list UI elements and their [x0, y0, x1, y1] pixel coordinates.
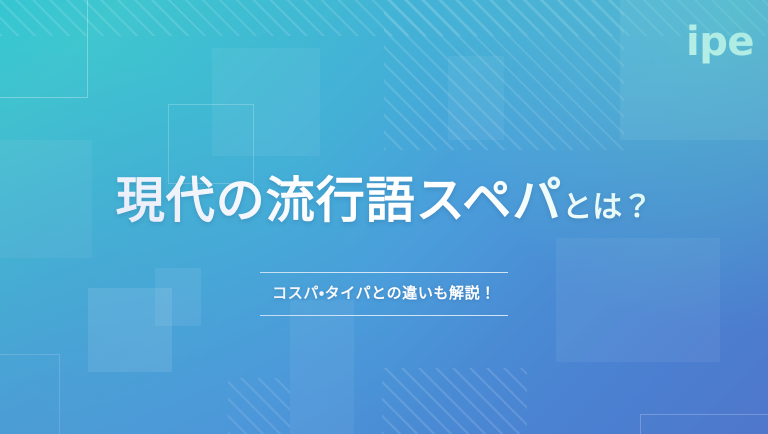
fill-band-center-lower — [290, 300, 354, 434]
stripe-block-lower-left — [382, 368, 527, 434]
stripe-block-right — [384, 0, 624, 150]
subtitle-text: コスパ・タイパとの違いも解説！ — [260, 273, 508, 315]
ipe-logo[interactable]: ipe — [686, 22, 754, 62]
page-title-suffix: とは？ — [562, 191, 652, 224]
outline-square-top-left — [0, 0, 88, 98]
hero-banner: ipe 現代の流行語スペパとは？ コスパ・タイパとの違いも解説！ — [0, 0, 768, 434]
fill-square-left-lower-2 — [155, 268, 201, 326]
stripe-block-lower-right — [228, 378, 290, 434]
page-title: 現代の流行語スペパとは？ — [0, 176, 768, 227]
fill-band-upper-right — [448, 56, 504, 140]
outline-square-bottom-left — [0, 354, 60, 434]
page-title-main: 現代の流行語スペパ — [116, 174, 563, 228]
subtitle-rule-bottom — [260, 315, 508, 316]
outline-square-mid-left — [168, 104, 254, 184]
outline-square-bottom-right — [640, 414, 768, 434]
subtitle-block: コスパ・タイパとの違いも解説！ — [260, 272, 508, 316]
fill-square-right-lower — [556, 238, 720, 362]
